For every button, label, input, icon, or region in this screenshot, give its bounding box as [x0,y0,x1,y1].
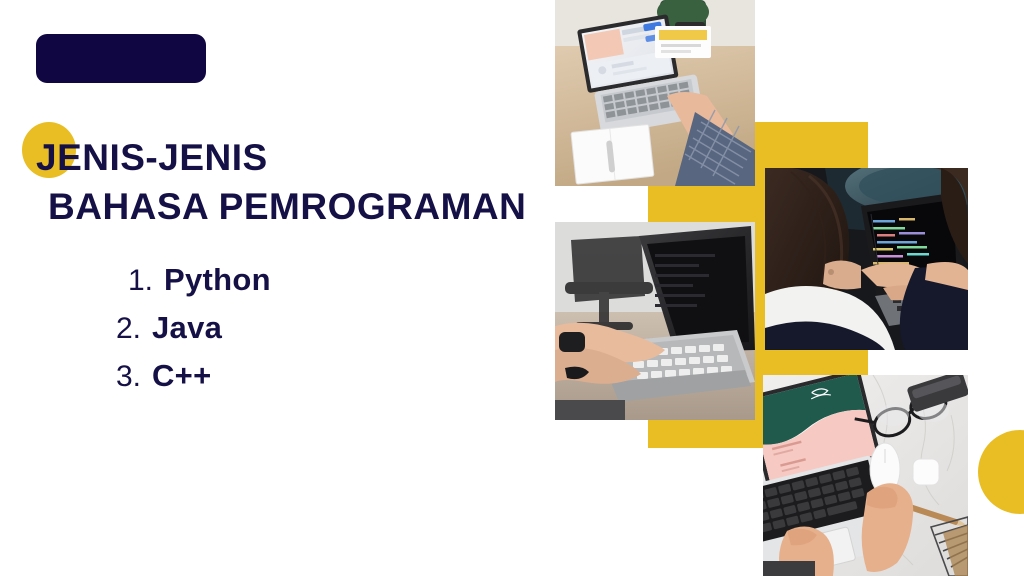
list-item: 1. Python [128,262,271,310]
language-list: 1. Python 2. Java 3. C++ [128,262,271,406]
navy-tag-shape [36,34,206,83]
photo-women-coding [765,168,968,350]
corner-accent-circle-icon [978,430,1024,514]
page-title: JENIS-JENIS BAHASA PEMROGRAMAN [36,133,526,231]
photo-hands-typing [555,222,755,420]
photo-marble-desk [763,375,968,576]
title-line-2: BAHASA PEMROGRAMAN [36,182,526,231]
list-item-number: 2. [116,312,152,346]
slide-canvas: JENIS-JENIS BAHASA PEMROGRAMAN 1. Python… [0,0,1024,576]
list-item-label: Python [164,262,271,298]
list-item-label: C++ [152,358,212,394]
list-item-number: 3. [116,360,152,394]
title-line-1: JENIS-JENIS [36,133,526,182]
list-item-label: Java [152,310,222,346]
list-item-number: 1. [128,264,164,298]
list-item: 2. Java [116,310,271,358]
list-item: 3. C++ [116,358,271,406]
photo-desk-laptop [555,0,755,186]
